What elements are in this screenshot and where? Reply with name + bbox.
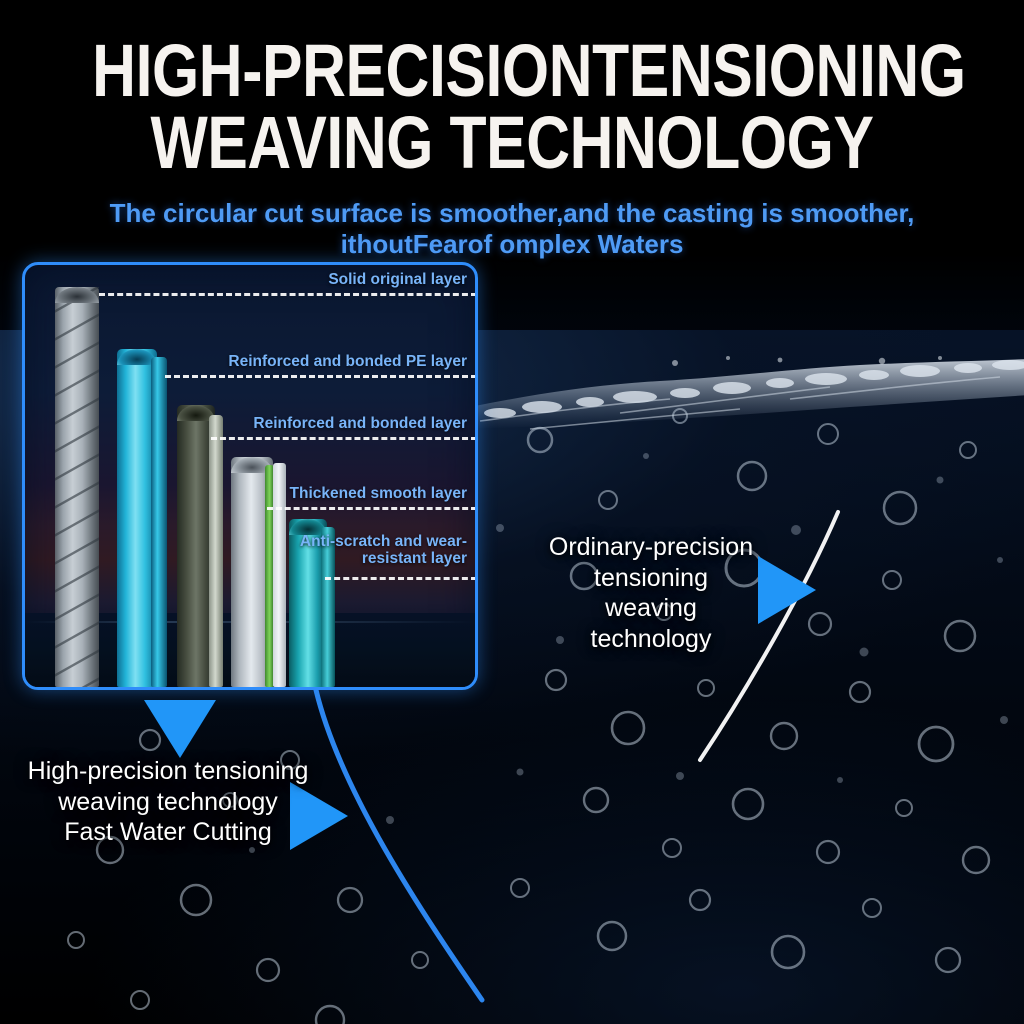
subtitle-line-2: ithoutFearof omplex Waters bbox=[0, 229, 1024, 260]
leader-line-1 bbox=[99, 293, 477, 296]
title-line-1: HIGH-PRECISIONTENSIONING bbox=[92, 36, 932, 106]
callout-right-line-1: Ordinary-precision bbox=[546, 532, 756, 563]
layer-label-solid-original: Solid original layer bbox=[328, 271, 467, 288]
callout-left-line-3: Fast Water Cutting bbox=[18, 817, 318, 848]
rod-reinforced-bonded-inner bbox=[209, 415, 223, 687]
callout-left-line-1: High-precision tensioning bbox=[18, 756, 318, 787]
poster-canvas: HIGH-PRECISIONTENSIONING WEAVING TECHNOL… bbox=[0, 0, 1024, 1024]
page-title: HIGH-PRECISIONTENSIONING WEAVING TECHNOL… bbox=[0, 36, 1024, 179]
anti-scratch-line-1: Anti-scratch and bbox=[300, 533, 422, 550]
rod-solid-original bbox=[55, 287, 99, 687]
layer-label-reinforced-pe: Reinforced and bonded PE layer bbox=[228, 353, 467, 370]
callout-right-line-2: tensioning bbox=[546, 563, 756, 594]
subtitle-line-1: The circular cut surface is smoother,and… bbox=[110, 198, 915, 228]
rod-group bbox=[25, 265, 475, 687]
triangle-right-icon-right bbox=[758, 556, 816, 624]
page-subtitle: The circular cut surface is smoother,and… bbox=[0, 198, 1024, 259]
callout-ordinary-precision: Ordinary-precision tensioning weaving te… bbox=[546, 532, 756, 654]
layer-label-anti-scratch: Anti-scratch and wear-resistant layer bbox=[287, 533, 467, 568]
callout-left-line-2: weaving technology bbox=[18, 787, 318, 818]
callout-right-line-3: weaving technology bbox=[546, 593, 756, 654]
triangle-down-icon bbox=[144, 700, 216, 758]
layer-label-reinforced-bonded: Reinforced and bonded layer bbox=[253, 415, 467, 432]
leader-line-5 bbox=[325, 577, 477, 580]
layer-label-thickened-smooth: Thickened smooth layer bbox=[290, 485, 467, 502]
leader-line-4 bbox=[267, 507, 477, 510]
callout-high-precision: High-precision tensioning weaving techno… bbox=[18, 756, 318, 848]
rod-thickened-smooth-inner bbox=[273, 463, 286, 687]
leader-line-2 bbox=[165, 375, 477, 378]
leader-line-3 bbox=[211, 437, 477, 440]
rod-reinforced-pe-inner bbox=[151, 357, 167, 687]
title-line-2: WEAVING TECHNOLOGY bbox=[92, 108, 932, 178]
layer-diagram-panel: Solid original layer Reinforced and bond… bbox=[22, 262, 478, 690]
